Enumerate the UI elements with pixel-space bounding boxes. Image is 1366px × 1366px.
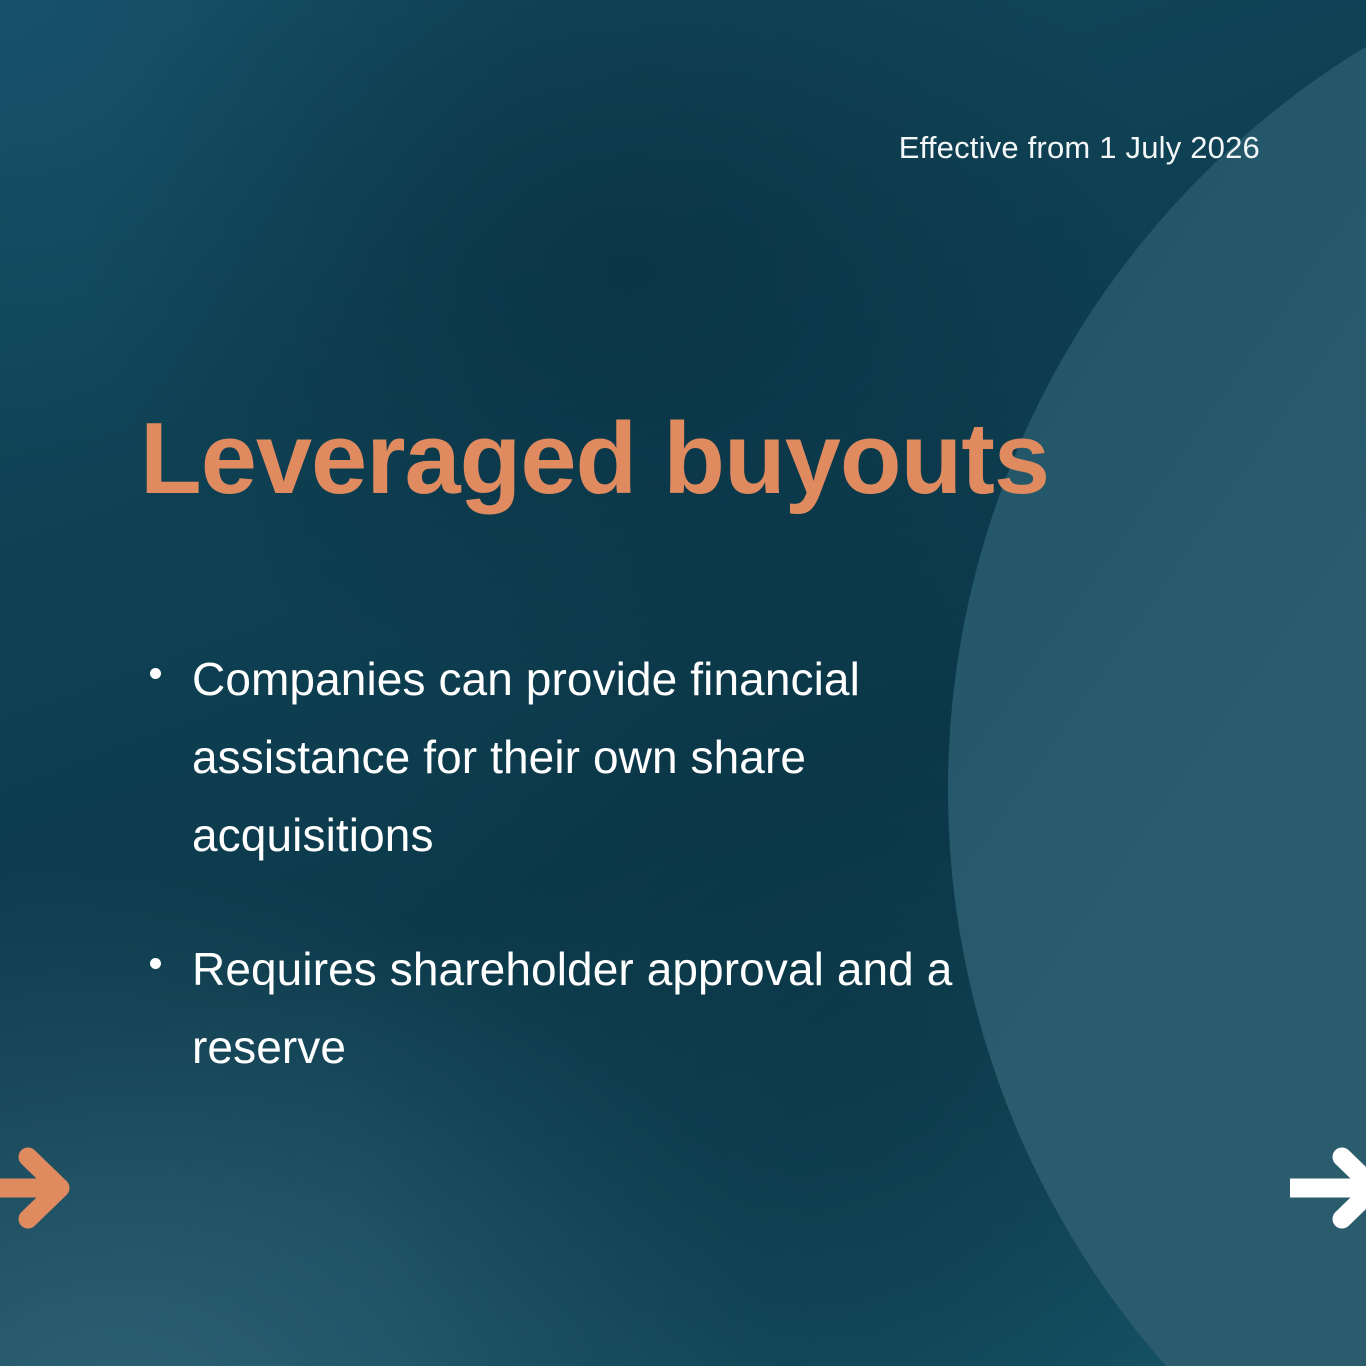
- list-item-label: Companies can provide financial assistan…: [192, 640, 1052, 874]
- arrow-right-white-icon[interactable]: [1290, 1143, 1366, 1233]
- arrow-right-orange-icon[interactable]: [0, 1143, 72, 1233]
- bullet-list: Companies can provide financial assistan…: [150, 640, 1110, 1142]
- list-item-label: Requires shareholder approval and a rese…: [192, 930, 1097, 1086]
- bullet-dot-icon: [150, 668, 161, 679]
- slide: Effective from 1 July 2026 Leveraged buy…: [0, 0, 1366, 1366]
- list-item: Companies can provide financial assistan…: [150, 640, 1110, 874]
- list-item: Requires shareholder approval and a rese…: [150, 930, 1110, 1086]
- page-title: Leveraged buyouts: [140, 405, 1049, 514]
- bullet-dot-icon: [150, 958, 161, 969]
- effective-date-note: Effective from 1 July 2026: [899, 130, 1260, 166]
